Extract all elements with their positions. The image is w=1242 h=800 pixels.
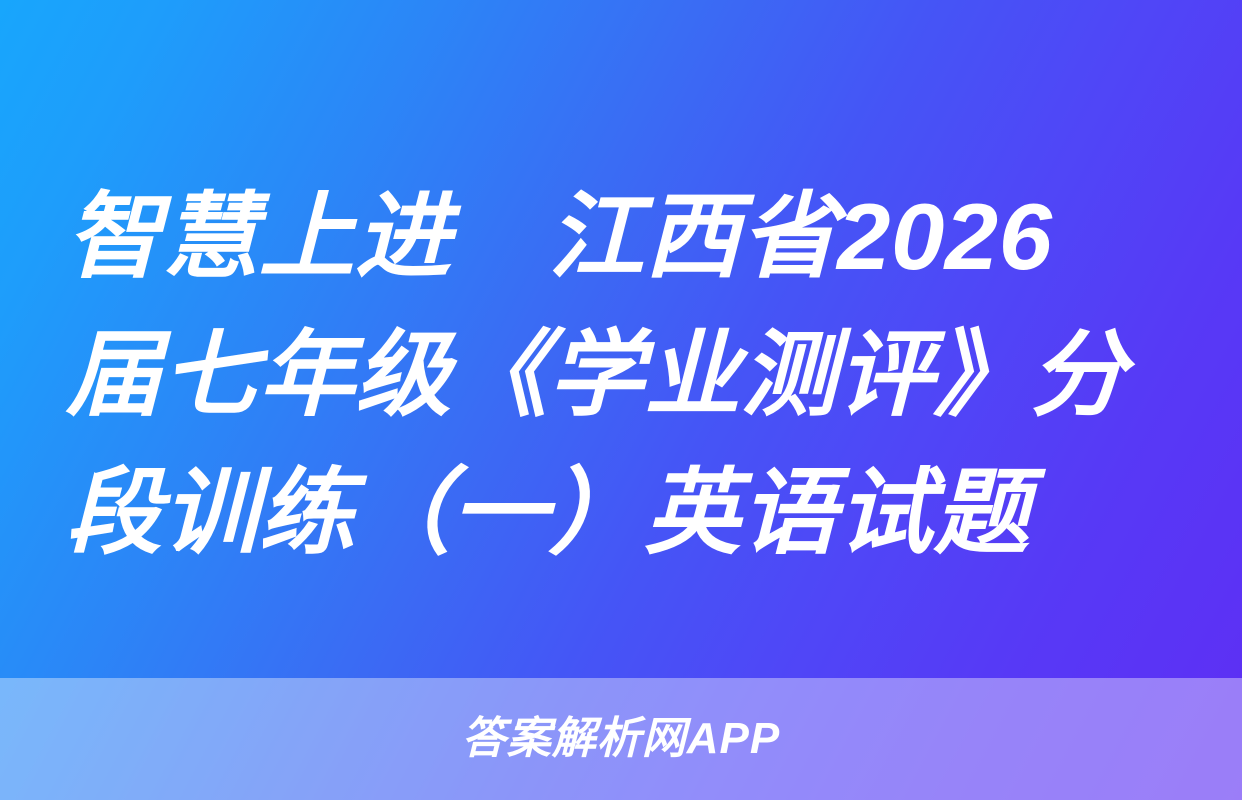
title-line-2: 届七年级《学业测评》分 bbox=[66, 306, 1176, 444]
title-line-1-text: 智慧上进 江西省2026 bbox=[66, 168, 1052, 306]
title-line-2-text: 届七年级《学业测评》分 bbox=[66, 306, 1126, 444]
title-line-1: 智慧上进 江西省2026 bbox=[66, 168, 1176, 306]
poster-canvas: 智慧上进 江西省2026 届七年级《学业测评》分 段训练（一）英语试题 答案解析… bbox=[0, 0, 1242, 800]
title-line-3: 段训练（一）英语试题 bbox=[66, 444, 1176, 582]
title-line-3-text: 段训练（一）英语试题 bbox=[66, 444, 1030, 582]
poster-title: 智慧上进 江西省2026 届七年级《学业测评》分 段训练（一）英语试题 bbox=[0, 168, 1242, 582]
footer-banner: 答案解析网APP bbox=[0, 678, 1242, 800]
app-brand-label: 答案解析网APP bbox=[462, 717, 780, 761]
